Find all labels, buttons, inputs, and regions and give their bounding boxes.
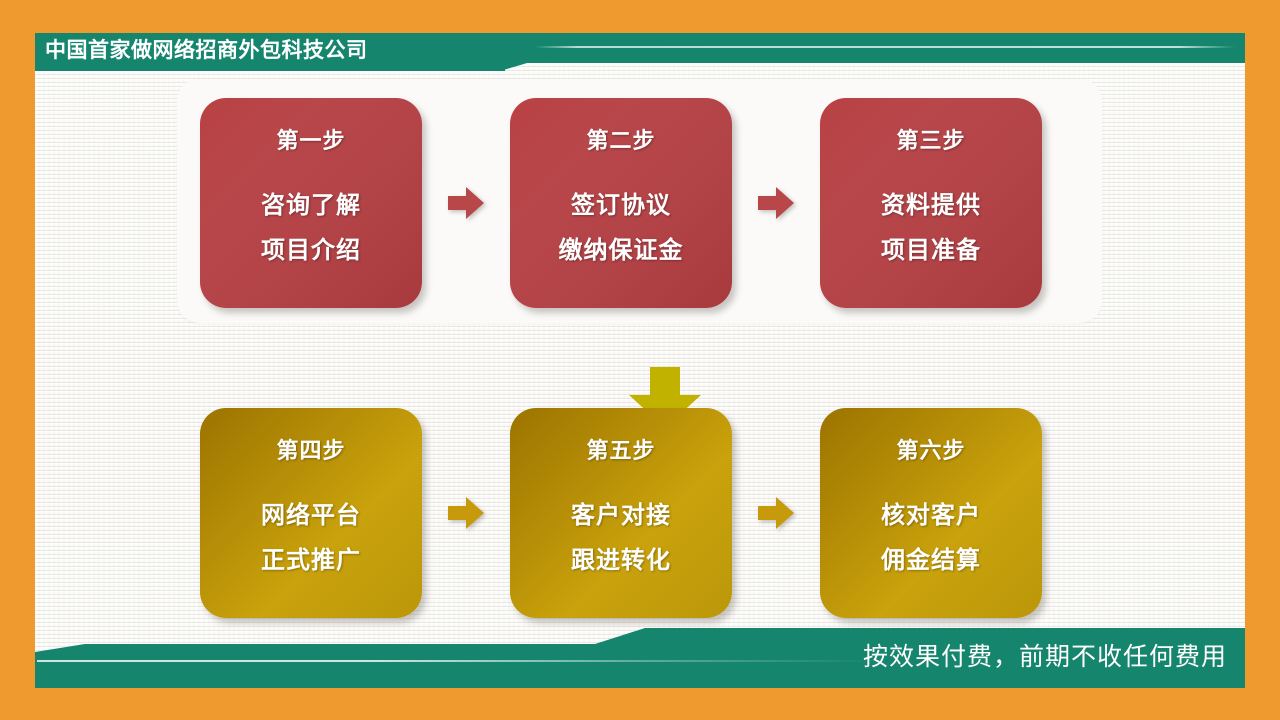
arrow-gap-2-3: [732, 98, 820, 308]
step-3-title: 第三步: [896, 123, 965, 155]
step-4-lines: 网络平台 正式推广: [261, 495, 361, 575]
footer-green-band: 按效果付费，前期不收任何费用: [35, 620, 1245, 688]
arrow-gap-5-6: [732, 408, 820, 618]
step-4-line-2: 正式推广: [261, 540, 361, 575]
step-box-1[interactable]: 第一步 咨询了解 项目介绍: [200, 98, 422, 308]
arrow-right-icon: [758, 496, 794, 530]
step-1-title: 第一步: [276, 123, 345, 155]
step-3-line-2: 项目准备: [881, 230, 981, 265]
step-6-line-2: 佣金结算: [881, 540, 981, 575]
arrow-right-icon: [448, 186, 484, 220]
page-title: 中国首家做网络招商外包科技公司: [35, 33, 505, 64]
step-5-lines: 客户对接 跟进转化: [571, 495, 671, 575]
step-box-2[interactable]: 第二步 签订协议 缴纳保证金: [510, 98, 732, 308]
step-3-line-1: 资料提供: [881, 185, 981, 220]
step-6-lines: 核对客户 佣金结算: [881, 495, 981, 575]
step-1-line-1: 咨询了解: [261, 185, 361, 220]
step-5-line-1: 客户对接: [571, 495, 671, 530]
step-2-line-1: 签订协议: [559, 185, 684, 220]
step-box-3[interactable]: 第三步 资料提供 项目准备: [820, 98, 1042, 308]
step-1-line-2: 项目介绍: [261, 230, 361, 265]
arrow-right-icon: [758, 186, 794, 220]
step-5-line-2: 跟进转化: [571, 540, 671, 575]
step-4-line-1: 网络平台: [261, 495, 361, 530]
header-hairline-divider: [535, 46, 1235, 48]
arrow-gap-4-5: [422, 408, 510, 618]
slide-canvas: 中国首家做网络招商外包科技公司 第一步 咨询了解 项目介绍 第二步 签订协议: [0, 0, 1280, 720]
step-1-lines: 咨询了解 项目介绍: [261, 185, 361, 265]
step-box-5[interactable]: 第五步 客户对接 跟进转化: [510, 408, 732, 618]
step-3-lines: 资料提供 项目准备: [881, 185, 981, 265]
step-2-line-2: 缴纳保证金: [559, 230, 684, 265]
step-6-line-1: 核对客户: [881, 495, 981, 530]
step-2-lines: 签订协议 缴纳保证金: [559, 185, 684, 265]
step-box-4[interactable]: 第四步 网络平台 正式推广: [200, 408, 422, 618]
step-6-title: 第六步: [896, 433, 965, 465]
step-2-title: 第二步: [586, 123, 655, 155]
step-box-6[interactable]: 第六步 核对客户 佣金结算: [820, 408, 1042, 618]
step-5-title: 第五步: [586, 433, 655, 465]
arrow-right-icon: [448, 496, 484, 530]
step-4-title: 第四步: [276, 433, 345, 465]
step-row-top: 第一步 咨询了解 项目介绍 第二步 签订协议 缴纳保证金: [200, 98, 1042, 308]
arrow-gap-1-2: [422, 98, 510, 308]
footer-hairline-divider: [37, 660, 877, 662]
slide-inner-canvas: 中国首家做网络招商外包科技公司 第一步 咨询了解 项目介绍 第二步 签订协议: [35, 33, 1245, 688]
footer-tagline: 按效果付费，前期不收任何费用: [863, 637, 1227, 673]
step-row-bottom: 第四步 网络平台 正式推广 第五步 客户对接 跟进转化: [200, 408, 1042, 618]
